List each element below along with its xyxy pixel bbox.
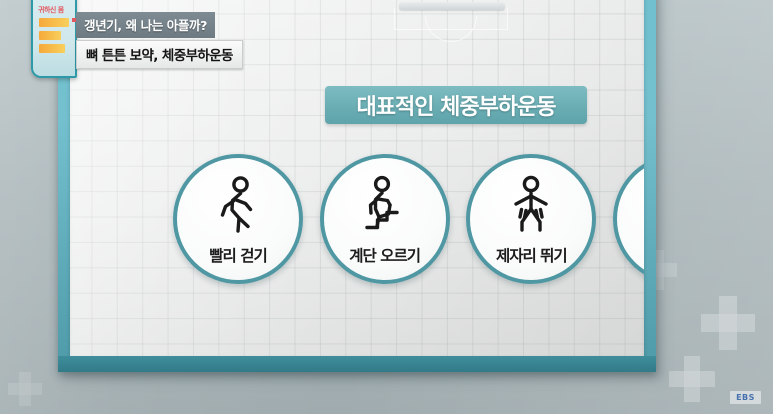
exercise-card-stairs[interactable]: 계단 오르기 [320,154,450,284]
segment-subtitle: 뼈 튼튼 보약, 체중부하운동 [76,40,243,69]
logo-bar [39,18,69,27]
jumping-in-place-person-icon [500,174,562,236]
exercise-label: 제자리 뛰기 [470,244,592,266]
program-episode-title: 갱년기, 왜 나는 아플까? [76,12,215,38]
broadcast-title-bar: 갱년기, 왜 나는 아플까? 뼈 튼튼 보약, 체중부하운동 [76,12,243,69]
walking-person-icon [207,174,269,236]
program-logo-bars [39,18,69,57]
logo-bar [39,44,65,53]
channel-watermark: EBS [730,391,761,404]
exercise-label: 계단 오르기 [324,244,446,266]
program-logo-sheet: 귀하신 몸 [31,0,77,78]
exercise-label: 줄넘기 [617,244,644,266]
marker-tray-bar [399,2,505,10]
decorative-cross-icon [669,356,715,402]
decorative-cross-icon [701,296,755,350]
exercise-list: 빨리 걷기 계단 오르기 [173,154,644,284]
logo-bar [39,31,61,40]
channel-watermark-text: EBS [736,393,755,402]
exercise-label: 빨리 걷기 [177,244,299,266]
slide-heading-banner: 대표적인 체중부하운동 [325,86,587,124]
program-logo: 귀하신 몸 [31,0,77,78]
exercise-card-jumprope[interactable]: 줄넘기 [613,154,644,284]
exercise-card-walking[interactable]: 빨리 걷기 [173,154,303,284]
program-logo-text: 귀하신 몸 [38,5,72,15]
exercise-card-jumping[interactable]: 제자리 뛰기 [466,154,596,284]
decorative-cross-icon [8,372,42,406]
stair-climbing-person-icon [354,174,416,236]
slide-heading-text: 대표적인 체중부하운동 [356,89,555,121]
marker-tray [394,8,508,30]
